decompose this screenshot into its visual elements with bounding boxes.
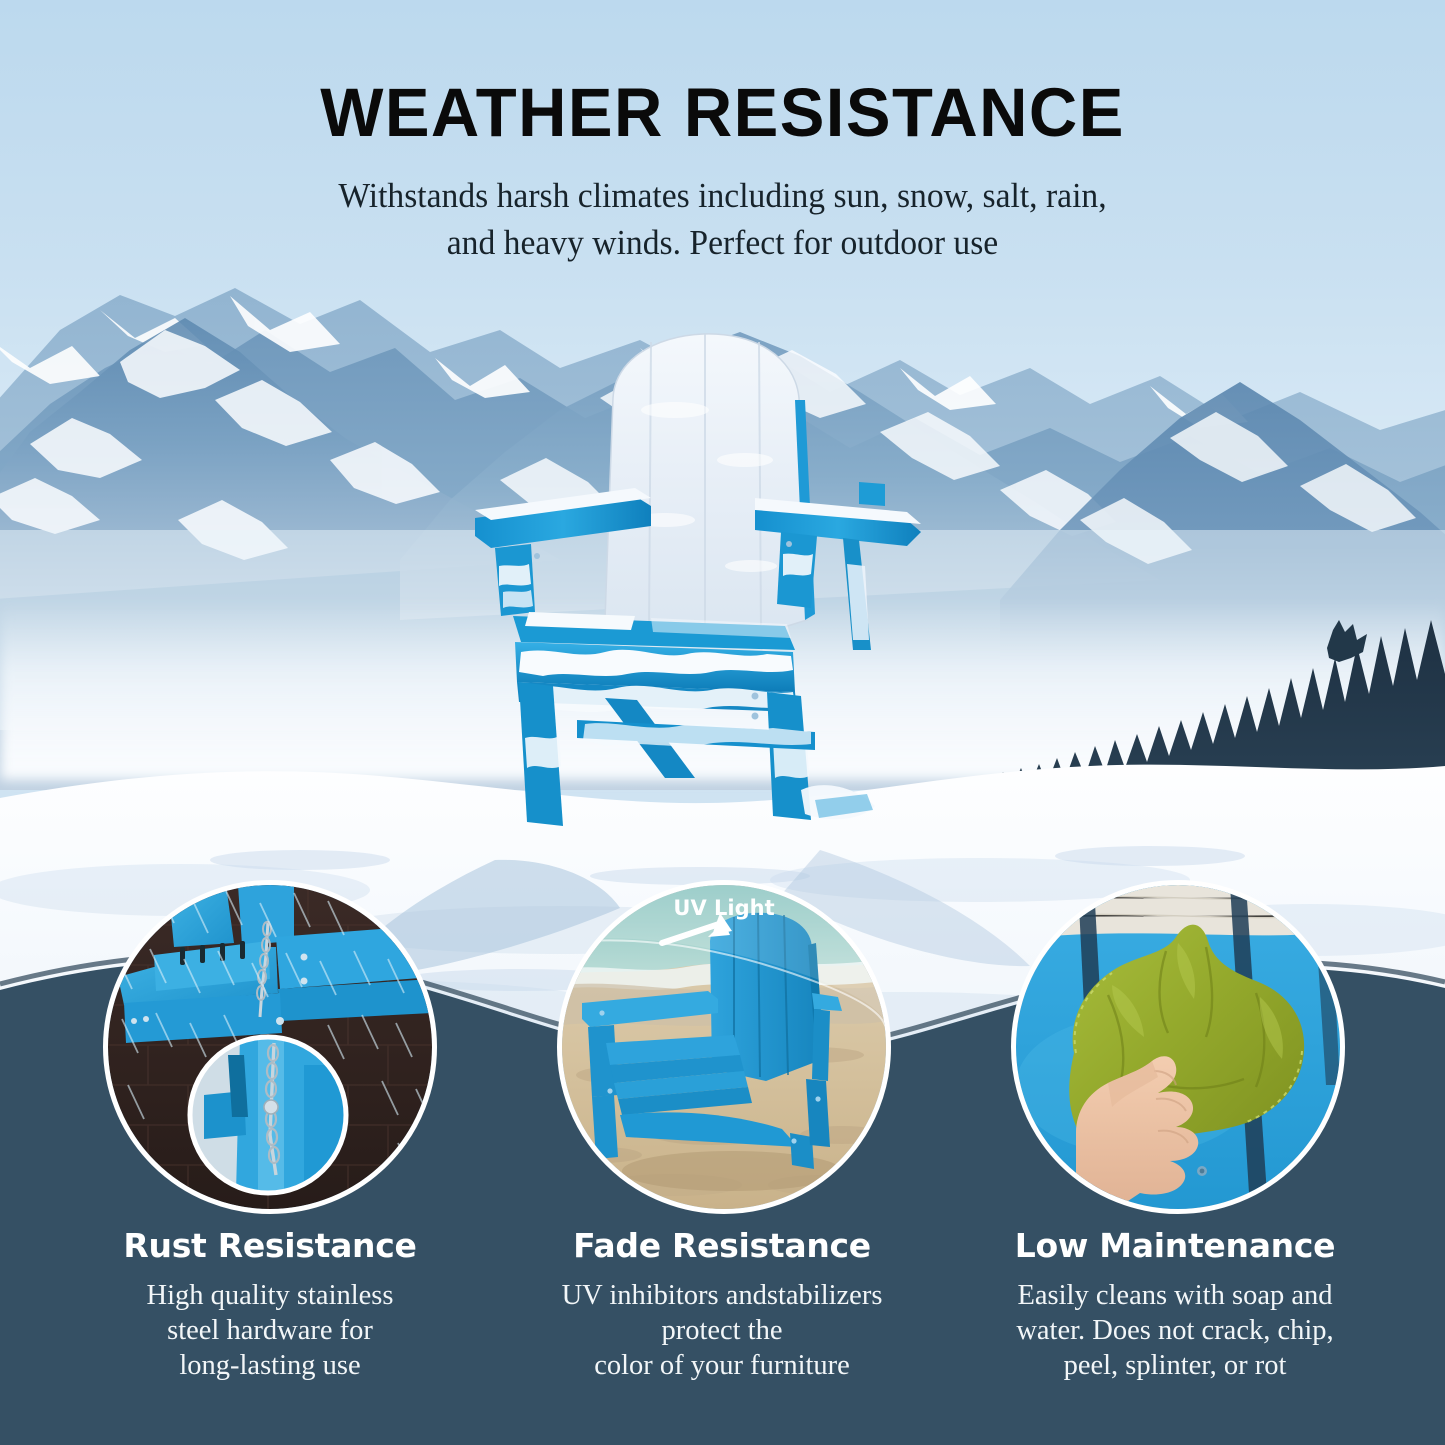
feature-title: Fade Resistance [512, 1228, 932, 1264]
subtitle-line-1: Withstands harsh climates including sun,… [29, 173, 1416, 220]
feature-fade-resistance: Fade Resistance UV inhibitors andstabili… [512, 1228, 932, 1383]
uv-light-label-text: UV Light [673, 896, 774, 920]
page-subtitle: Withstands harsh climates including sun,… [29, 173, 1416, 266]
hero-snow-covered-chair [455, 320, 945, 860]
feature-title: Rust Resistance [60, 1228, 480, 1264]
page-title: WEATHER RESISTANCE [22, 78, 1424, 147]
subtitle-line-2: and heavy winds. Perfect for outdoor use [29, 220, 1416, 267]
feature-body-line: Easily cleans with soap and [965, 1278, 1385, 1313]
feature-image-rust-resistance [103, 880, 437, 1214]
feature-low-maintenance: Low Maintenance Easily cleans with soap … [965, 1228, 1385, 1383]
infographic-canvas: WEATHER RESISTANCE Withstands harsh clim… [0, 0, 1445, 1445]
feature-body-line: long-lasting use [60, 1348, 480, 1383]
feature-body: High quality stainless steel hardware fo… [60, 1278, 480, 1383]
feature-body-line: peel, splinter, or rot [965, 1348, 1385, 1383]
feature-rust-resistance: Rust Resistance High quality stainless s… [60, 1228, 480, 1383]
header-block: WEATHER RESISTANCE Withstands harsh clim… [0, 0, 1445, 266]
feature-image-low-maintenance [1011, 880, 1345, 1214]
feature-body-line: protect the [512, 1313, 932, 1348]
feature-body-line: steel hardware for [60, 1313, 480, 1348]
feature-body-line: water. Does not crack, chip, [965, 1313, 1385, 1348]
feature-body-line: High quality stainless [60, 1278, 480, 1313]
feature-body: UV inhibitors andstabilizers protect the… [512, 1278, 932, 1383]
feature-body: Easily cleans with soap and water. Does … [965, 1278, 1385, 1383]
feature-image-circles: UV Light [0, 880, 1445, 1220]
feature-body-line: UV inhibitors andstabilizers [512, 1278, 932, 1313]
feature-title: Low Maintenance [965, 1228, 1385, 1264]
feature-image-fade-resistance: UV Light [557, 880, 891, 1214]
feature-body-line: color of your furniture [512, 1348, 932, 1383]
